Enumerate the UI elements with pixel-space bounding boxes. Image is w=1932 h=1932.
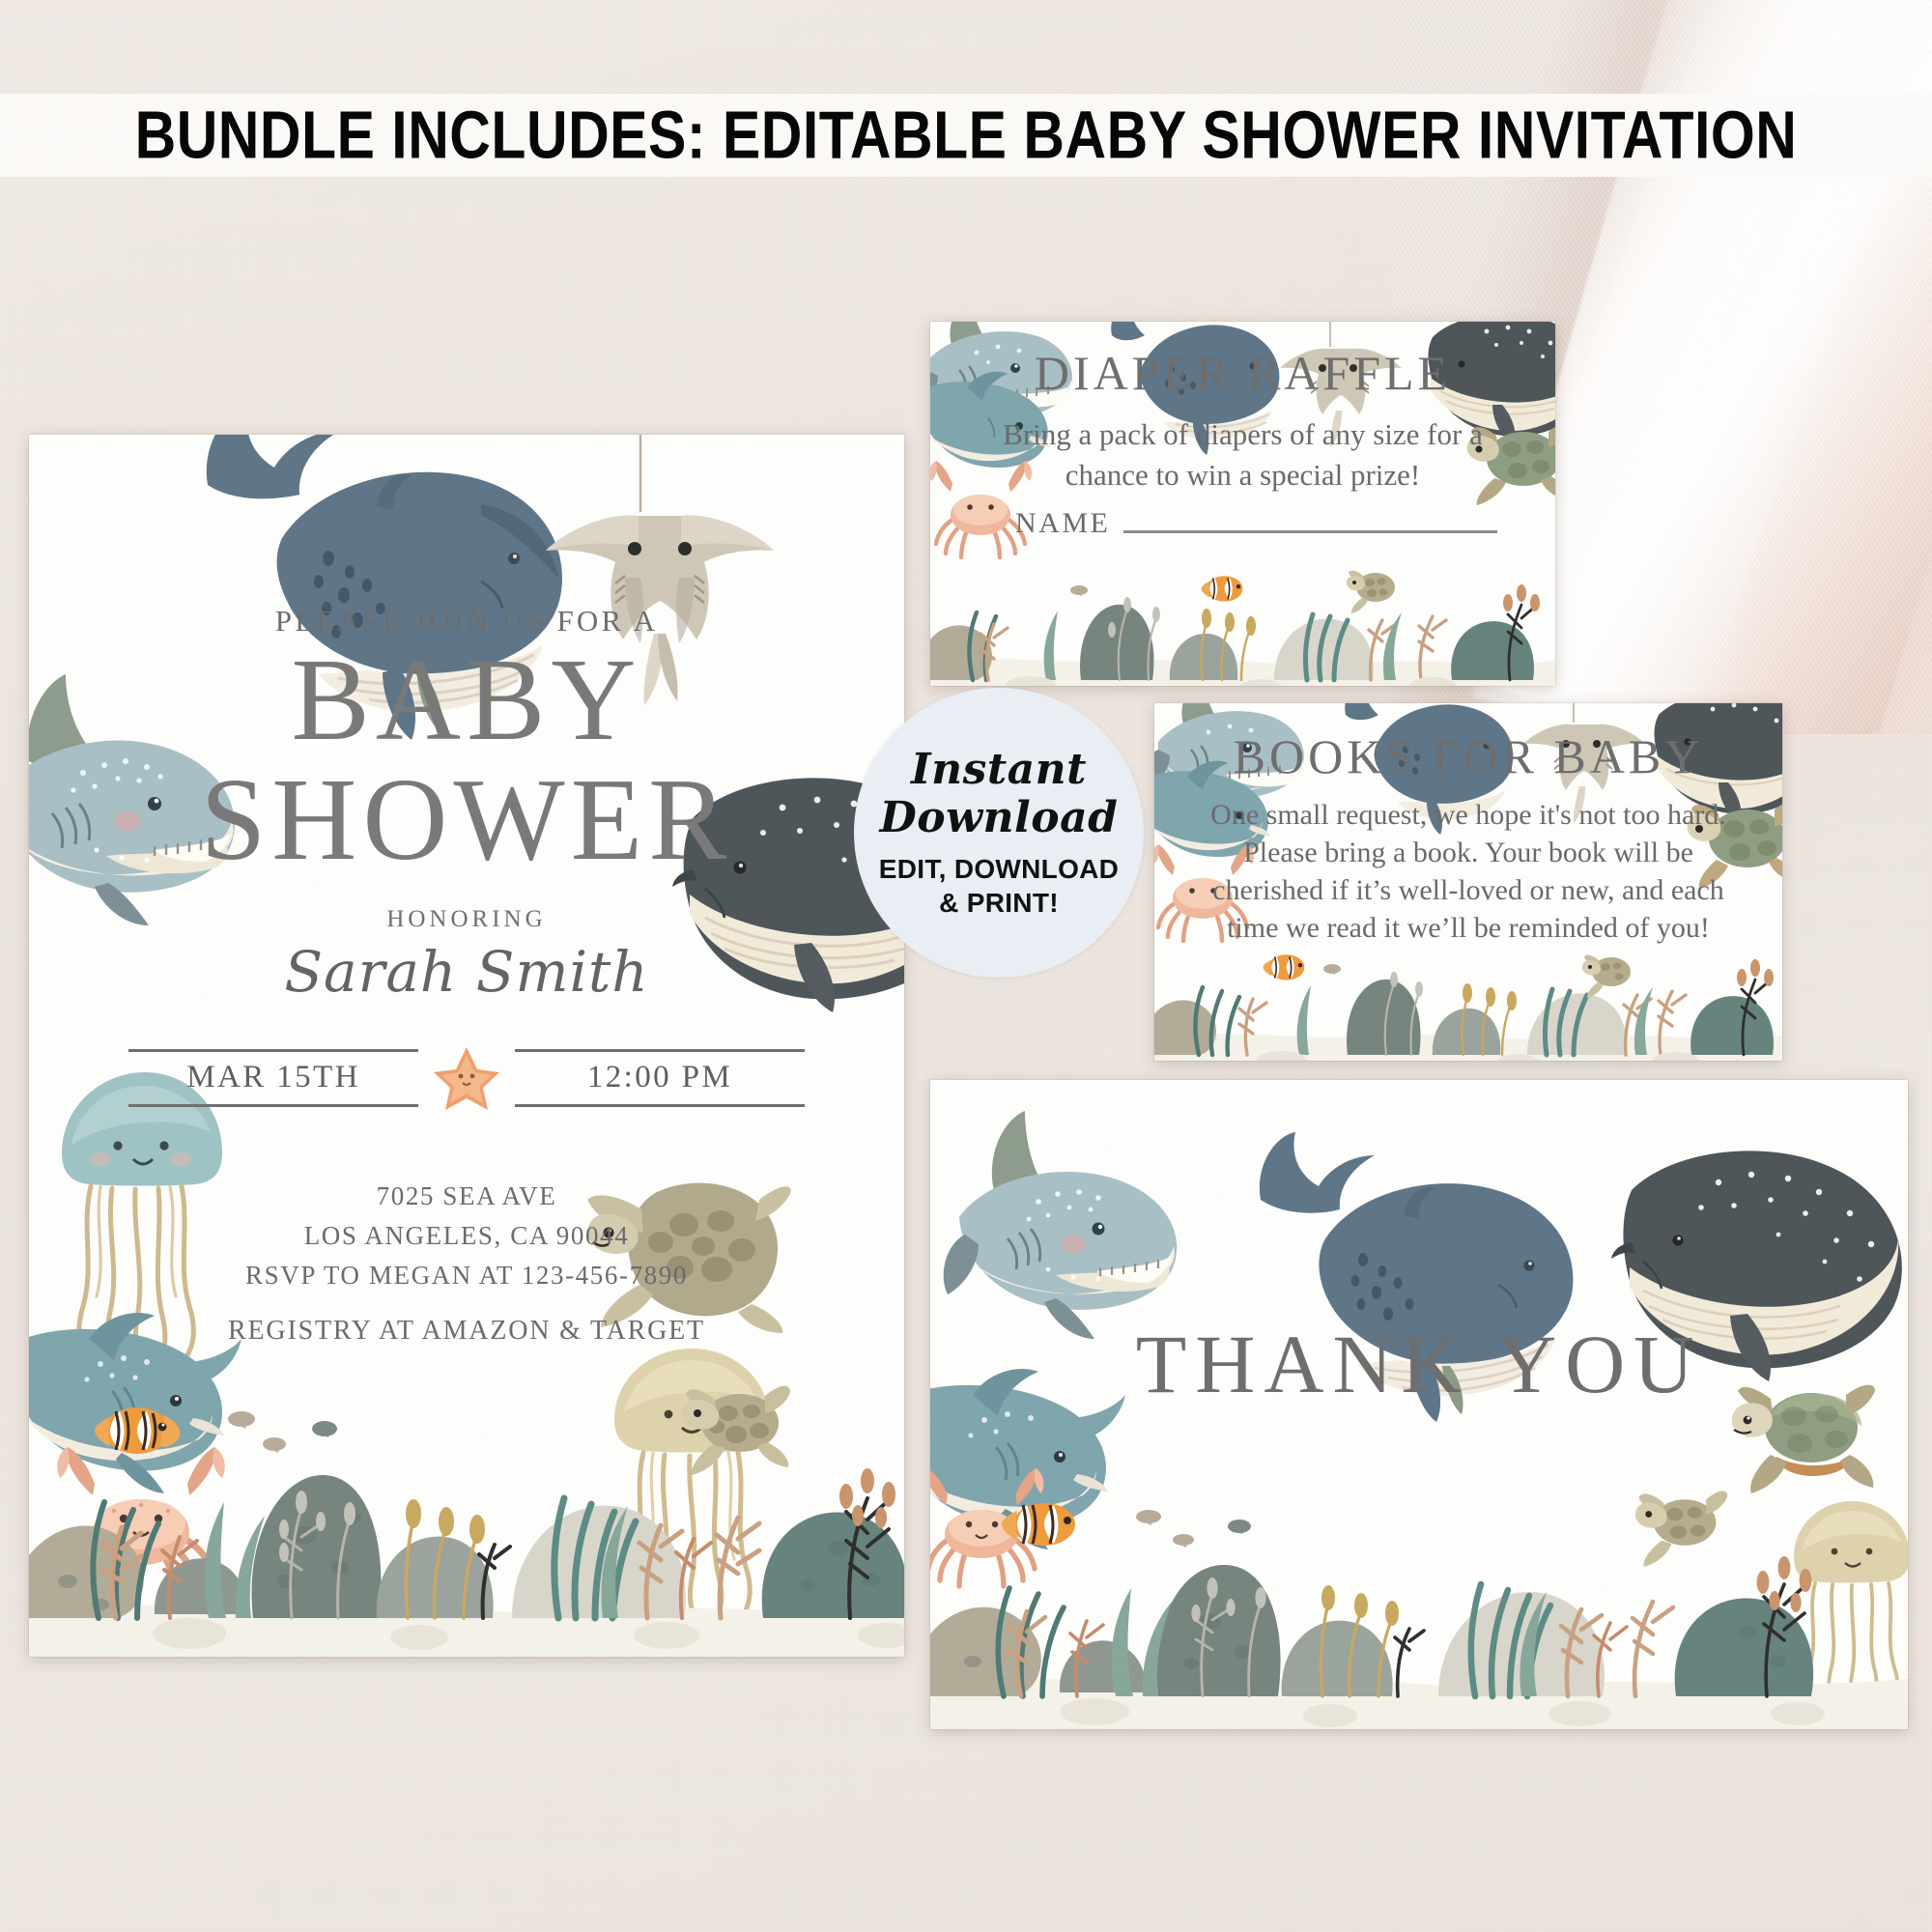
invitation-join-line: PLEASE JOIN US FOR A <box>29 604 904 639</box>
starfish-icon <box>432 1043 501 1113</box>
bundle-banner-text: BUNDLE INCLUDES: EDITABLE BABY SHOWER IN… <box>135 97 1798 174</box>
diaper-raffle-name-field[interactable]: NAME <box>1015 507 1497 540</box>
crab-icon <box>930 1464 1058 1590</box>
diaper-raffle-body-line-1: Bring a pack of diapers of any size for … <box>930 414 1555 455</box>
diaper-raffle-name-label: NAME <box>1015 507 1110 540</box>
invitation-date-value: MAR 15TH <box>128 1052 418 1104</box>
instant-download-script-line-1: Instant <box>911 746 1087 794</box>
books-body-line-1: One small request, we hope it's not too … <box>1154 796 1782 834</box>
sea-turtle-icon <box>1635 1491 1727 1567</box>
clownfish-icon <box>1264 954 1305 980</box>
diaper-raffle-body-line-2: chance to win a special prize! <box>930 455 1555 496</box>
clownfish-icon <box>1202 576 1243 601</box>
books-for-baby-card[interactable]: BOOKS FOR BABY One small request, we hop… <box>1154 703 1782 1061</box>
invitation-address-line-2: LOS ANGELES, CA 90044 <box>29 1216 904 1256</box>
invitation-date-time-bar: MAR 15TH 12:00 PM <box>29 1043 904 1113</box>
books-body-line-3: cherished if it’s well-loved or new, and… <box>1154 871 1782 909</box>
invitation-title-shower: SHOWER <box>29 759 904 881</box>
jellyfish-icon <box>597 1333 790 1623</box>
invitation-time-value: 12:00 PM <box>515 1052 805 1104</box>
invitation-rsvp-line: RSVP TO MEGAN AT 123-456-7890 <box>29 1256 904 1295</box>
invitation-time-block: 12:00 PM <box>515 1049 805 1107</box>
sea-turtle-icon <box>1347 571 1395 613</box>
books-for-baby-title: BOOKS FOR BABY <box>1154 728 1782 784</box>
instant-download-badge[interactable]: Instant Download EDIT, DOWNLOAD & PRINT! <box>854 688 1144 978</box>
books-body-line-2: Please bring a book. Your book will be <box>1154 834 1782 871</box>
invitation-registry-line: REGISTRY AT AMAZON & TARGET <box>29 1316 904 1347</box>
diaper-raffle-card[interactable]: DIAPER RAFFLE Bring a pack of diapers of… <box>930 322 1555 686</box>
bundle-banner: BUNDLE INCLUDES: EDITABLE BABY SHOWER IN… <box>0 94 1932 177</box>
invitation-honoree-name: Sarah Smith <box>29 939 904 1005</box>
invitation-address-line-1: 7025 SEA AVE <box>29 1177 904 1216</box>
thank-you-title: THANK YOU <box>930 1316 1908 1412</box>
instant-download-caps-line-2: & PRINT! <box>939 886 1059 920</box>
diaper-raffle-title: DIAPER RAFFLE <box>930 345 1555 401</box>
instant-download-caps-line-1: EDIT, DOWNLOAD <box>879 852 1119 886</box>
diaper-raffle-name-line[interactable] <box>1123 530 1497 533</box>
jellyfish-icon <box>1780 1492 1908 1704</box>
invitation-title-baby: BABY <box>29 639 904 761</box>
sea-turtle-icon <box>1582 955 1631 998</box>
crab-icon <box>50 1439 243 1604</box>
invitation-honoring-label: HONORING <box>29 906 904 933</box>
instant-download-script-line-2: Download <box>880 794 1119 842</box>
baby-shower-invitation-card[interactable]: PLEASE JOIN US FOR A BABY SHOWER HONORIN… <box>29 435 904 1657</box>
thank-you-card[interactable]: THANK YOU <box>930 1080 1908 1729</box>
invitation-date-block: MAR 15TH <box>128 1049 418 1107</box>
books-body-line-4: time we read it we’ll be reminded of you… <box>1154 909 1782 947</box>
